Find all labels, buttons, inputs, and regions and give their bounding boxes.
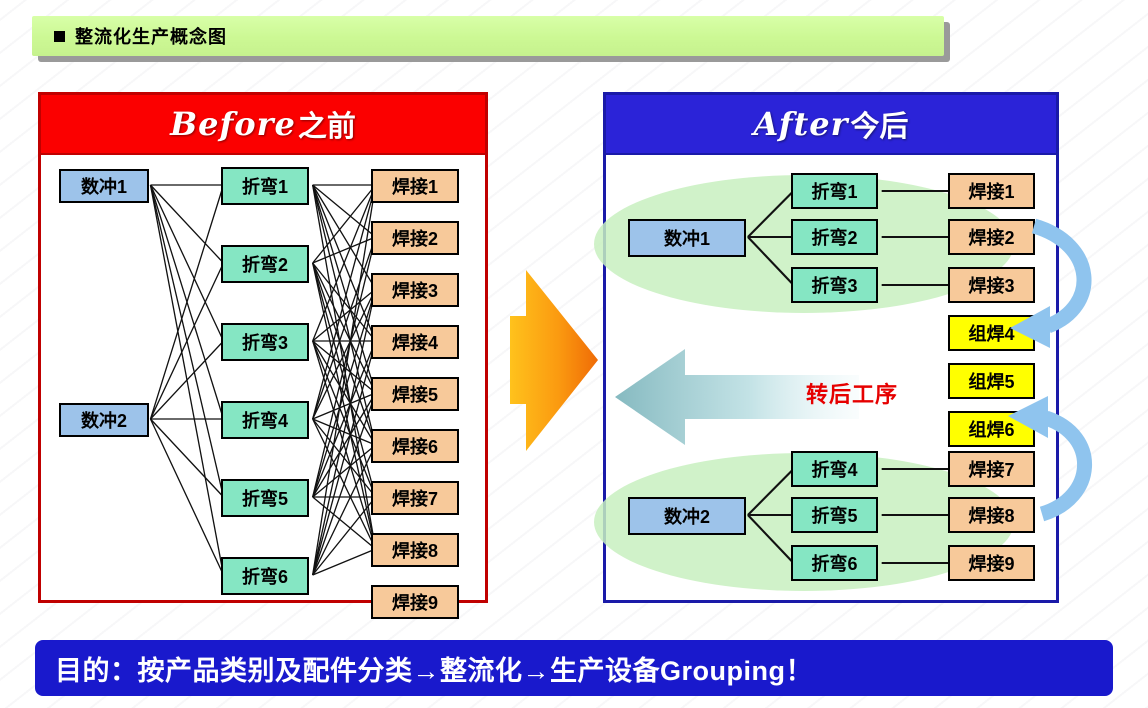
turn-to-next-process-label: 转后工序 bbox=[806, 377, 898, 409]
panel-before: Before 之前 bbox=[38, 92, 488, 603]
node-weld-9[interactable]: 焊接9 bbox=[371, 585, 459, 619]
node-after-bend-4[interactable]: 折弯4 bbox=[791, 451, 878, 487]
node-after-bend-5[interactable]: 折弯5 bbox=[791, 497, 878, 533]
panel-after-title-cn: 今后 bbox=[851, 103, 909, 145]
panel-after-body: 转后工序 数冲1 折弯1 折弯2 bbox=[606, 153, 1056, 602]
node-weld-5[interactable]: 焊接5 bbox=[371, 377, 459, 411]
node-after-bend-6[interactable]: 折弯6 bbox=[791, 545, 878, 581]
node-bend-2[interactable]: 折弯2 bbox=[221, 245, 309, 283]
node-weld-2[interactable]: 焊接2 bbox=[371, 221, 459, 255]
node-weld-1[interactable]: 焊接1 bbox=[371, 169, 459, 203]
node-bend-6[interactable]: 折弯6 bbox=[221, 557, 309, 595]
transition-arrow-icon bbox=[498, 268, 608, 453]
node-punch-2[interactable]: 数冲2 bbox=[59, 403, 149, 437]
node-weld-3[interactable]: 焊接3 bbox=[371, 273, 459, 307]
node-bend-5[interactable]: 折弯5 bbox=[221, 479, 309, 517]
node-weld-7[interactable]: 焊接7 bbox=[371, 481, 459, 515]
header-bar: 整流化生产概念图 bbox=[32, 16, 944, 56]
rework-loop-arrows bbox=[1000, 200, 1148, 540]
panel-before-title-cn: 之前 bbox=[298, 103, 356, 145]
node-bend-4[interactable]: 折弯4 bbox=[221, 401, 309, 439]
loop-arrow-bottom-head-icon bbox=[1008, 396, 1048, 438]
node-weld-6[interactable]: 焊接6 bbox=[371, 429, 459, 463]
node-after-bend-3[interactable]: 折弯3 bbox=[791, 267, 878, 303]
loop-arrow-top-head-icon bbox=[1010, 306, 1050, 348]
loop-arrow-bottom-path bbox=[1042, 418, 1085, 514]
square-bullet-icon bbox=[54, 31, 65, 42]
node-after-bend-2[interactable]: 折弯2 bbox=[791, 219, 878, 255]
node-bend-3[interactable]: 折弯3 bbox=[221, 323, 309, 361]
conclusion-banner-text: 目的：按产品类别及配件分类→整流化→生产设备Grouping！ bbox=[55, 649, 813, 688]
node-after-bend-1[interactable]: 折弯1 bbox=[791, 173, 878, 209]
panel-after-title-en: After bbox=[753, 105, 848, 143]
node-after-punch-1[interactable]: 数冲1 bbox=[628, 219, 746, 257]
node-weld-4[interactable]: 焊接4 bbox=[371, 325, 459, 359]
node-after-punch-2[interactable]: 数冲2 bbox=[628, 497, 746, 535]
node-bend-1[interactable]: 折弯1 bbox=[221, 167, 309, 205]
node-punch-1[interactable]: 数冲1 bbox=[59, 169, 149, 203]
panel-before-body: 数冲1 数冲2 折弯1 折弯2 折弯3 折弯4 折弯5 折弯6 焊接1 焊接2 … bbox=[41, 153, 485, 602]
node-after-weld-9[interactable]: 焊接9 bbox=[948, 545, 1035, 581]
page-title: 整流化生产概念图 bbox=[75, 23, 227, 49]
panel-before-title-en: Before bbox=[170, 105, 296, 143]
panel-before-title: Before 之前 bbox=[41, 95, 485, 153]
conclusion-banner: 目的：按产品类别及配件分类→整流化→生产设备Grouping！ bbox=[35, 640, 1113, 696]
panel-after: After 今后 转后工序 bbox=[603, 92, 1059, 603]
panel-after-title: After 今后 bbox=[606, 95, 1056, 153]
node-weld-8[interactable]: 焊接8 bbox=[371, 533, 459, 567]
